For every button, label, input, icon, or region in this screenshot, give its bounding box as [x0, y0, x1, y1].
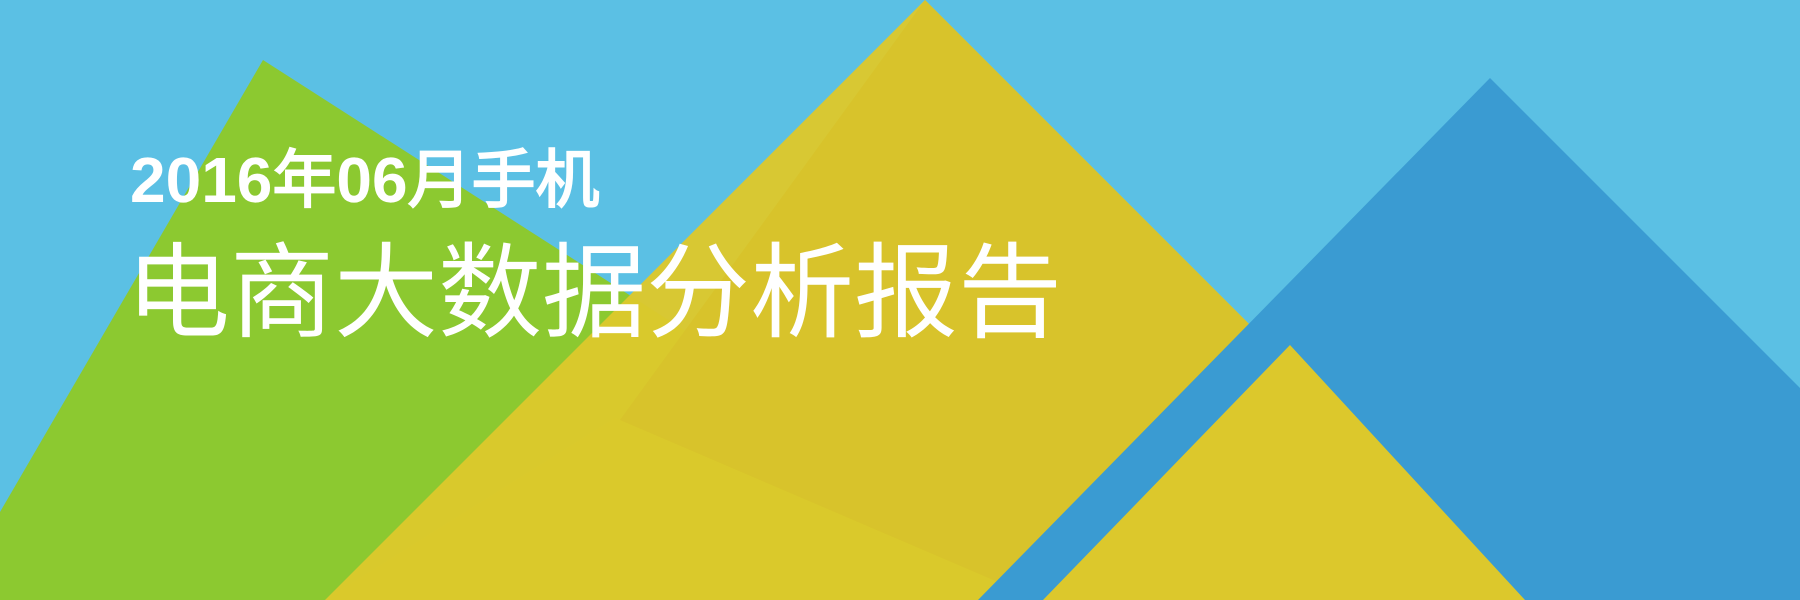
background-geometric-artwork [0, 0, 1800, 600]
report-cover-banner: 2016年06月手机 电商大数据分析报告 [0, 0, 1800, 600]
